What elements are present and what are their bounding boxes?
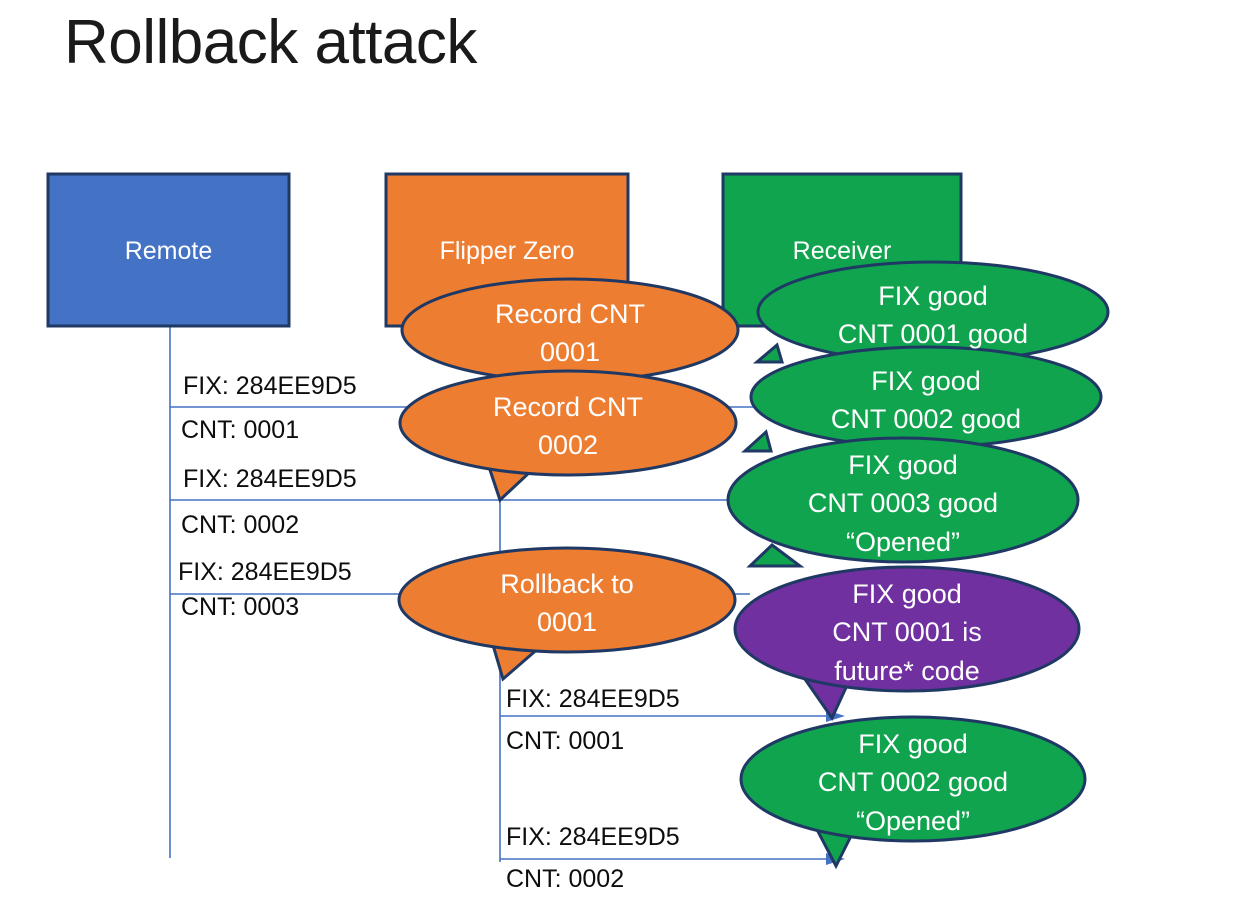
bubble-shape-fix-good-cnt-0002-good[interactable] bbox=[745, 347, 1101, 451]
bubble-shape-fix-good-cnt-0002-good-opened-2[interactable] bbox=[741, 717, 1085, 866]
arrow-msg-5 bbox=[500, 853, 845, 865]
bubble-shape-record-cnt-0001[interactable] bbox=[402, 279, 738, 381]
diagram-vector-layer bbox=[0, 0, 1233, 898]
slide-canvas: Rollback attack bbox=[0, 0, 1233, 898]
bubble-shape-record-cnt-0002[interactable] bbox=[400, 371, 736, 500]
actor-box-remote[interactable] bbox=[48, 174, 289, 326]
bubble-shape-fix-good-cnt-0001-future-code[interactable] bbox=[735, 567, 1079, 718]
arrow-msg-4 bbox=[500, 710, 845, 722]
bubble-shape-fix-good-cnt-0003-good-opened[interactable] bbox=[728, 438, 1078, 566]
bubble-shape-rollback-to-0001[interactable] bbox=[399, 548, 735, 679]
